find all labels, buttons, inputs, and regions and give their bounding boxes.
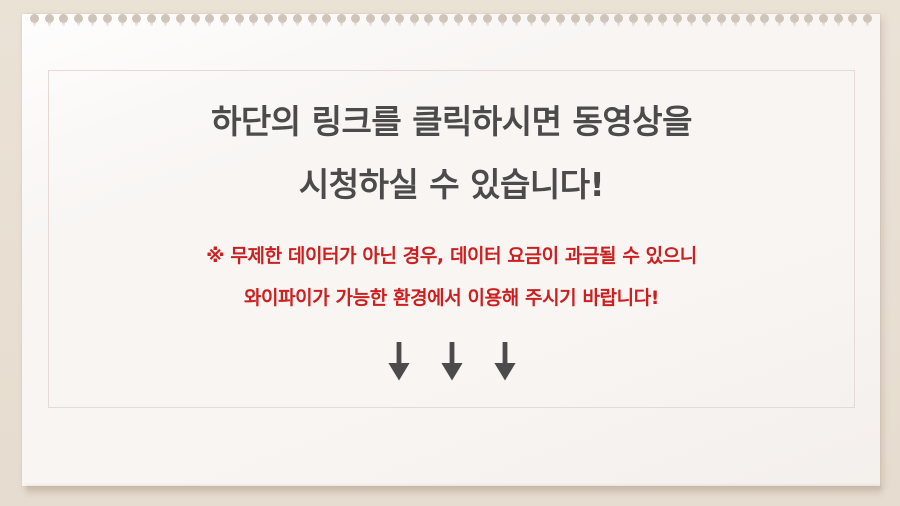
content-panel-inner: 하단의 링크를 클릭하시면 동영상을 시청하실 수 있습니다! ※ 무제한 데이… bbox=[49, 71, 854, 407]
notice-line-2: 와이파이가 가능한 환경에서 이용해 주시기 바랍니다! bbox=[244, 289, 659, 308]
headline-line-2: 시청하실 수 있습니다! bbox=[299, 168, 604, 201]
arrow-down-icon bbox=[493, 342, 517, 381]
notice-line-1: ※ 무제한 데이터가 아닌 경우, 데이터 요금이 과금될 수 있으니 bbox=[206, 247, 697, 266]
arrow-down-icon bbox=[440, 342, 464, 381]
arrow-group bbox=[387, 342, 517, 381]
headline-line-1: 하단의 링크를 클릭하시면 동영상을 bbox=[211, 105, 692, 138]
arrow-down-icon bbox=[387, 342, 411, 381]
notepad-stage: 하단의 링크를 클릭하시면 동영상을 시청하실 수 있습니다! ※ 무제한 데이… bbox=[0, 0, 900, 506]
content-panel: 하단의 링크를 클릭하시면 동영상을 시청하실 수 있습니다! ※ 무제한 데이… bbox=[48, 70, 855, 408]
notepad-bottom-shadow bbox=[26, 486, 882, 498]
